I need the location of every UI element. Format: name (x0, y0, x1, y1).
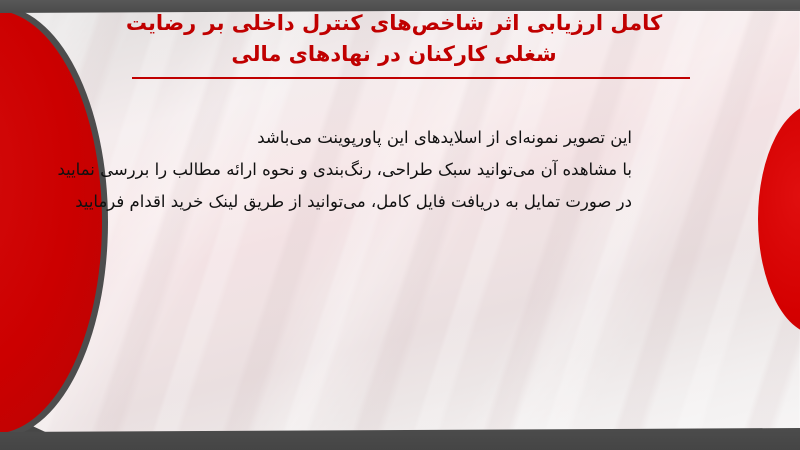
slide-title-line-2: شغلی کارکنان در نهادهای مالی (88, 39, 700, 70)
slide-body-text: این تصویر نمونه‌ای از اسلایدهای این پاور… (162, 122, 632, 218)
body-line-2: با مشاهده آن می‌توانید سبک طراحی، رنگ‌بن… (162, 154, 632, 186)
slide-title-line-1: کامل ارزیابی اثر شاخص‌های کنترل داخلی بر… (88, 8, 700, 39)
title-underline-rule (132, 77, 690, 79)
slide-content-panel (0, 11, 800, 435)
slide-canvas: کامل ارزیابی اثر شاخص‌های کنترل داخلی بر… (0, 0, 800, 450)
body-line-1: این تصویر نمونه‌ای از اسلایدهای این پاور… (162, 122, 632, 154)
body-line-3: در صورت تمایل به دریافت فایل کامل، می‌تو… (162, 186, 632, 218)
slide-title: کامل ارزیابی اثر شاخص‌های کنترل داخلی بر… (88, 8, 700, 70)
